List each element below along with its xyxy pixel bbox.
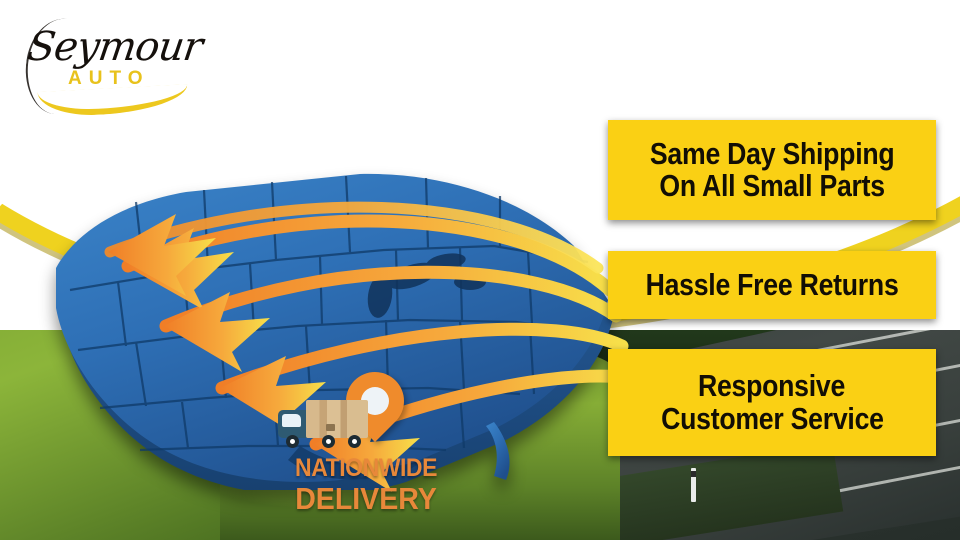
roadside-marker-post — [691, 468, 696, 502]
banner-line: Same Day Shipping — [650, 138, 895, 170]
callout-line-2: DELIVERY — [274, 483, 458, 514]
truck-wheel — [322, 435, 335, 448]
nationwide-delivery-callout: NATIONWIDE DELIVERY — [266, 456, 466, 514]
brand-logo[interactable]: Seymour AUTO — [20, 14, 210, 104]
brand-sub-name: AUTO — [68, 68, 149, 90]
truck-wheel — [286, 435, 299, 448]
truck-cargo-box — [306, 400, 368, 438]
delivery-truck-icon — [278, 398, 370, 448]
banner-line: Customer Service — [661, 403, 884, 435]
truck-wheel — [348, 435, 361, 448]
banner-line: Hassle Free Returns — [646, 269, 899, 301]
truck-box-label — [326, 424, 335, 431]
callout-line-1: NATIONWIDE — [274, 456, 458, 481]
brand-script-name: Seymour — [25, 24, 205, 70]
feature-banner-same-day-shipping[interactable]: Same Day Shipping On All Small Parts — [608, 120, 936, 220]
usa-map: NATIONWIDE DELIVERY — [8, 150, 628, 490]
feature-banner-hassle-free-returns[interactable]: Hassle Free Returns — [608, 251, 936, 319]
banner-line: On All Small Parts — [659, 170, 884, 202]
promo-banner: Seymour AUTO — [0, 0, 960, 540]
feature-banner-responsive-customer-service[interactable]: Responsive Customer Service — [608, 349, 936, 456]
banner-line: Responsive — [698, 370, 845, 402]
truck-window — [282, 414, 301, 427]
